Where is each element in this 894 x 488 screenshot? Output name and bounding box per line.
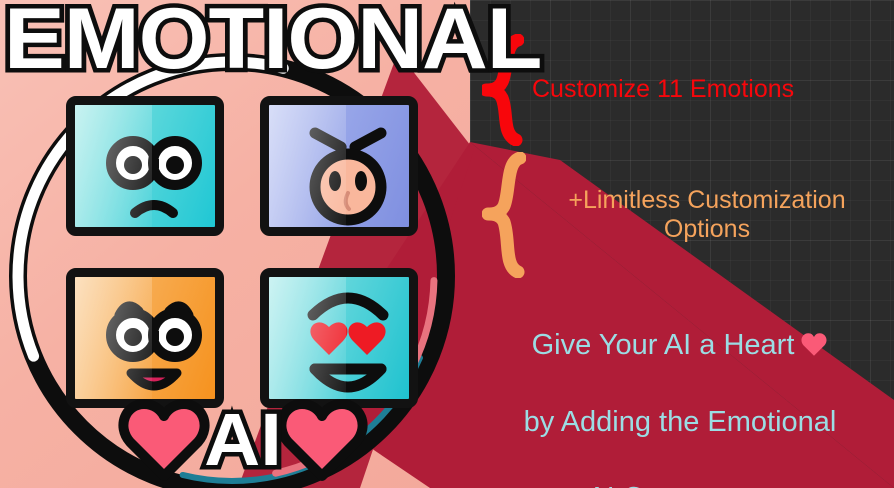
heart-eyes-face-icon [269, 277, 418, 408]
emotion-tile-happy[interactable] [66, 268, 224, 408]
wordmark-emotional: EMOTIONAL [4, 0, 541, 82]
tagline-block: Give Your AI a Heart by Adding the Emoti… [470, 288, 890, 488]
tagline-line-3: AI Component [587, 482, 772, 488]
emotion-tile-angry[interactable] [260, 96, 418, 236]
tagline-line-1: Give Your AI a Heart [532, 329, 795, 361]
happy-face-icon [75, 277, 224, 408]
emotional-ai-banner: EMOTIONAL AI Customize 11 Emotions +Limi… [0, 0, 894, 488]
callout-limitless-options: +Limitless Customization Options [482, 152, 882, 278]
angry-pig-face-icon [269, 105, 418, 236]
ai-label: AI [204, 403, 282, 477]
sad-face-icon [75, 105, 224, 236]
ai-wordmark-row: AI [118, 398, 368, 482]
callout-text-customize: Customize 11 Emotions [524, 75, 794, 105]
heart-icon-inline [800, 332, 828, 357]
tagline-line-2: by Adding the Emotional [524, 406, 837, 438]
emotion-tile-in-love[interactable] [260, 268, 418, 408]
callout-customize-emotions: Customize 11 Emotions [482, 34, 882, 146]
heart-icon-left [118, 398, 210, 482]
emotion-tile-sad[interactable] [66, 96, 224, 236]
emotion-tile-grid [66, 96, 418, 408]
heart-icon-right [276, 398, 368, 482]
curly-brace-icon-orange [482, 152, 526, 278]
callout-text-limitless: +Limitless Customization Options [526, 186, 882, 245]
